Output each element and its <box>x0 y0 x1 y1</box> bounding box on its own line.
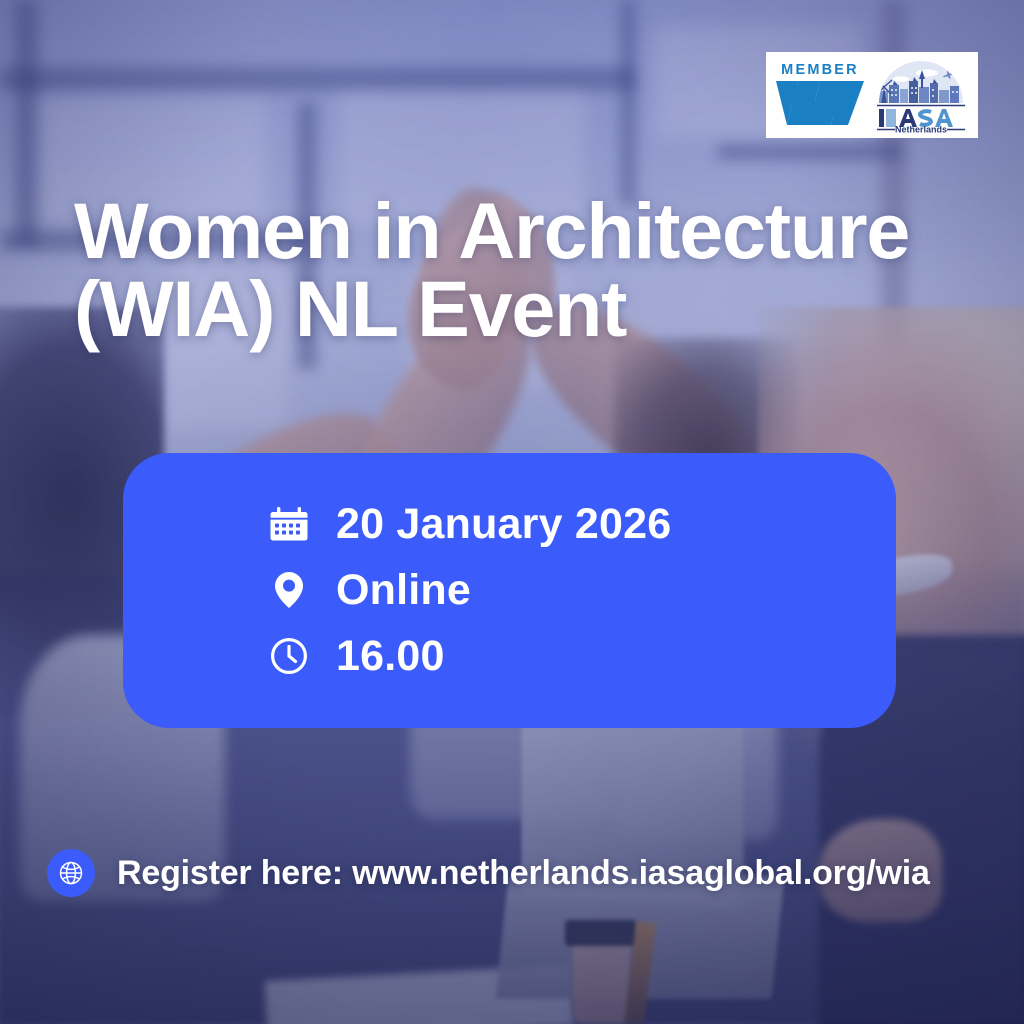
event-date-row: 20 January 2026 <box>268 491 896 557</box>
member-logo: MEMBER MEMBER <box>773 63 867 128</box>
page-title-line-2: (WIA) NL Event <box>74 270 974 348</box>
event-time-value: 16.00 <box>336 635 445 678</box>
iasa-member-logo: MEMBER MEMBER <box>766 52 978 138</box>
register-link-text[interactable]: Register here: www.netherlands.iasagloba… <box>117 854 930 893</box>
member-w-icon <box>774 79 866 127</box>
event-location-value: Online <box>336 569 471 612</box>
city-skyline-icon: Netherlands <box>871 57 971 133</box>
event-details-card: 20 January 2026 Online 16.00 <box>123 453 896 728</box>
page-title: Women in Architecture (WIA) NL Event <box>74 192 974 348</box>
member-label: MEMBER <box>781 63 859 78</box>
event-location-row: Online <box>268 557 896 623</box>
event-date-value: 20 January 2026 <box>336 503 671 546</box>
location-pin-icon <box>268 569 310 611</box>
event-time-row: 16.00 <box>268 623 896 689</box>
calendar-icon <box>268 503 310 545</box>
event-poster: MEMBER MEMBER <box>0 0 1024 1024</box>
iasa-country-label: Netherlands <box>895 125 947 134</box>
page-title-line-1: Women in Architecture <box>74 192 974 270</box>
iasa-netherlands-logo: Netherlands <box>871 57 971 133</box>
clock-icon <box>268 635 310 677</box>
globe-icon <box>47 849 95 897</box>
register-cta[interactable]: Register here: www.netherlands.iasagloba… <box>47 849 930 897</box>
